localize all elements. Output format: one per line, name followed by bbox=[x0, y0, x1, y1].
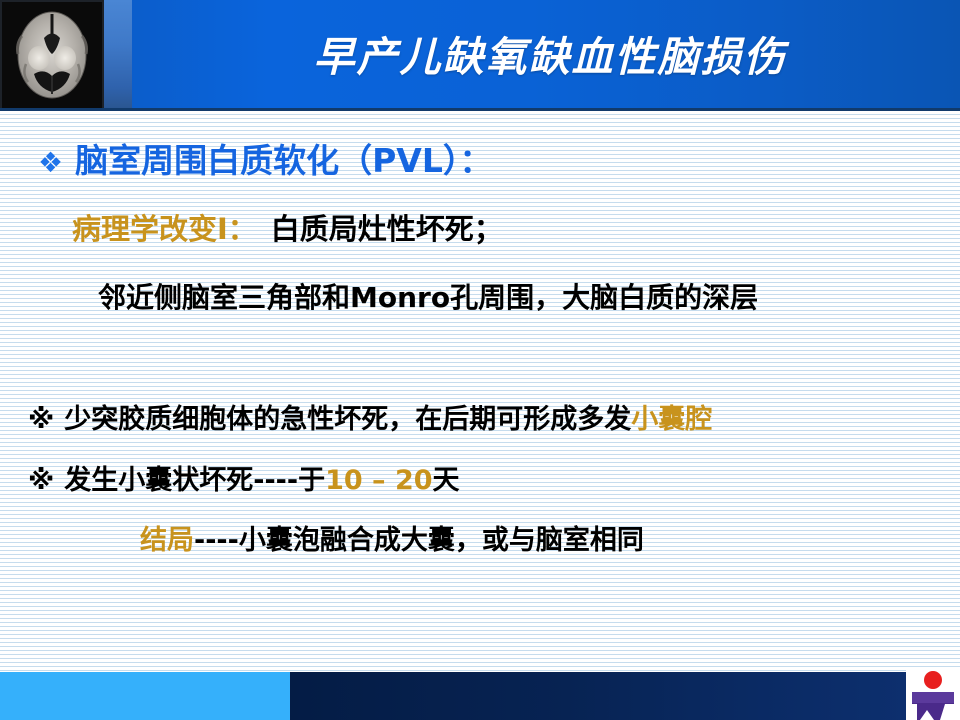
bullet-line-pvl: ❖脑室周围白质软化（PVL）： bbox=[38, 143, 492, 179]
bullet-label-pvl: 脑室周围白质软化（PVL）： bbox=[75, 141, 492, 180]
pathology-value: 白质局灶性坏死； bbox=[271, 212, 503, 246]
pathology-label: 病理学改变Ⅰ： bbox=[72, 212, 257, 246]
note-line-2: ※发生小囊状坏死----于10 – 20天 bbox=[28, 466, 460, 496]
slide: 早产儿缺氧缺血性脑损伤 ❖脑室周围白质软化（PVL）： 病理学改变Ⅰ：白质局灶性… bbox=[0, 0, 960, 720]
location-line: 邻近侧脑室三角部和Monro孔周围，大脑白质的深层 bbox=[98, 283, 758, 314]
note-text-3: ----小囊泡融合成大囊，或与脑室相同 bbox=[194, 525, 644, 556]
pathology-line: 病理学改变Ⅰ：白质局灶性坏死； bbox=[72, 214, 503, 246]
note-marker-1: ※ bbox=[28, 404, 54, 435]
figure-logo-icon bbox=[906, 668, 960, 720]
note-line-1: ※少突胶质细胞体的急性坏死，在后期可形成多发小囊腔 bbox=[28, 405, 712, 435]
note-tail-2: 天 bbox=[433, 465, 460, 496]
brain-mri-icon bbox=[2, 2, 102, 108]
note-highlight-3: 结局 bbox=[140, 525, 194, 556]
page-title: 早产儿缺氧缺血性脑损伤 bbox=[200, 28, 900, 88]
header-accent-strip bbox=[104, 0, 132, 110]
note-marker-2: ※ bbox=[28, 465, 54, 496]
note-highlight-2: 10 – 20 bbox=[325, 465, 432, 496]
note-line-3: 结局----小囊泡融合成大囊，或与脑室相同 bbox=[140, 526, 644, 556]
diamond-bullet-icon: ❖ bbox=[38, 146, 63, 179]
brain-mri-axial-thumbnail bbox=[2, 2, 102, 108]
footer-right-bar bbox=[290, 672, 906, 720]
note-highlight-1: 小囊腔 bbox=[631, 404, 712, 435]
note-text-2: 发生小囊状坏死----于 bbox=[64, 465, 325, 496]
footer-left-bar bbox=[0, 672, 290, 720]
header-divider bbox=[0, 108, 960, 111]
note-text-1: 少突胶质细胞体的急性坏死，在后期可形成多发 bbox=[64, 404, 631, 435]
purple-figure-logo bbox=[906, 668, 960, 720]
